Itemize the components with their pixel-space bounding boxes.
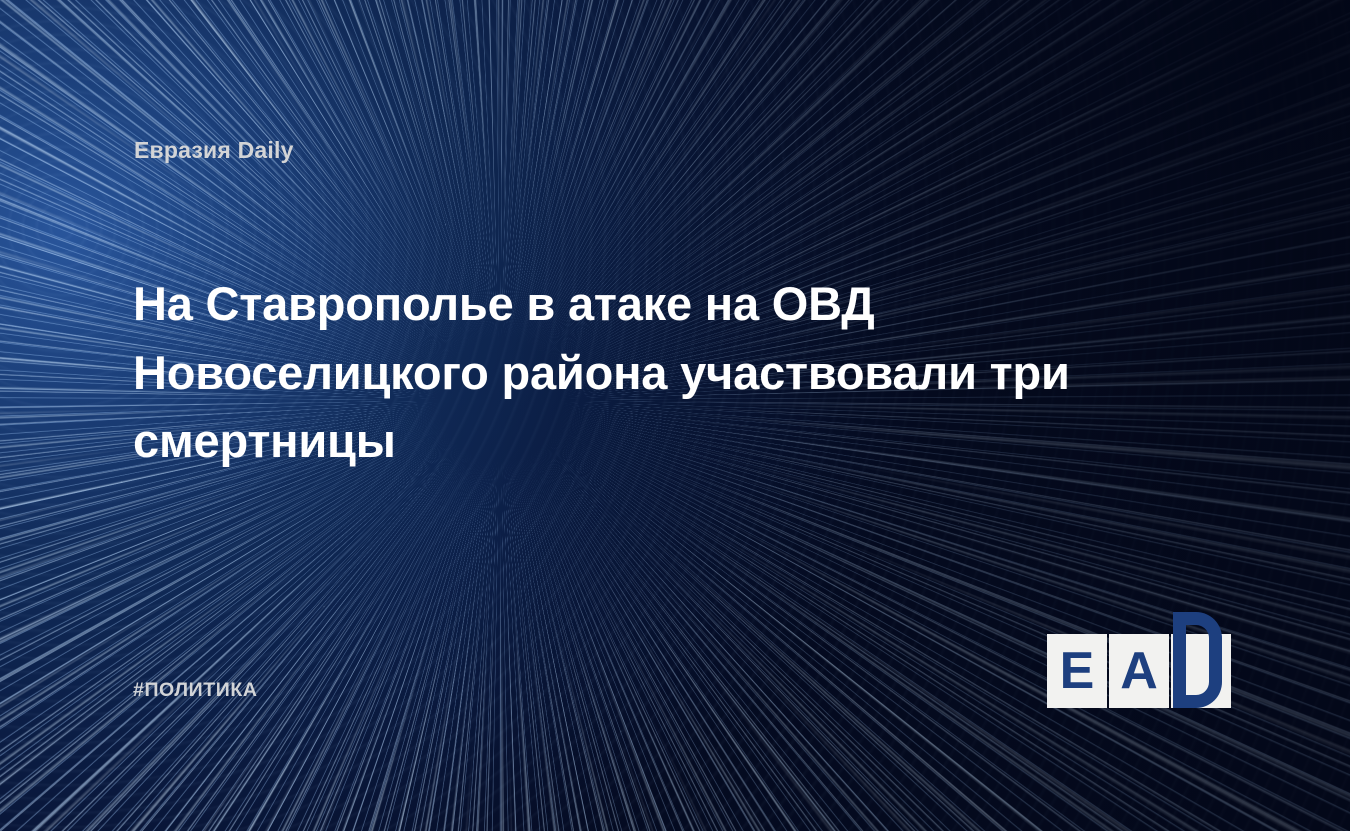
headline-text: На Ставрополье в атаке на ОВД Новоселицк… — [133, 270, 1213, 476]
logo-letter-d — [1173, 612, 1222, 708]
logo-letter-e: E — [1047, 634, 1107, 708]
logo-letter-d-bowl-upper — [1179, 612, 1222, 660]
category-tag: #ПОЛИТИКА — [133, 679, 258, 702]
news-social-card: Евразия Daily На Ставрополье в атаке на … — [0, 0, 1350, 831]
card-content: Евразия Daily На Ставрополье в атаке на … — [0, 0, 1350, 831]
brand-name: Евразия Daily — [134, 137, 294, 164]
logo-letter-a: A — [1109, 634, 1169, 708]
logo-letter-d-bowl-lower — [1179, 660, 1222, 708]
ead-logo: E A — [1047, 612, 1222, 708]
